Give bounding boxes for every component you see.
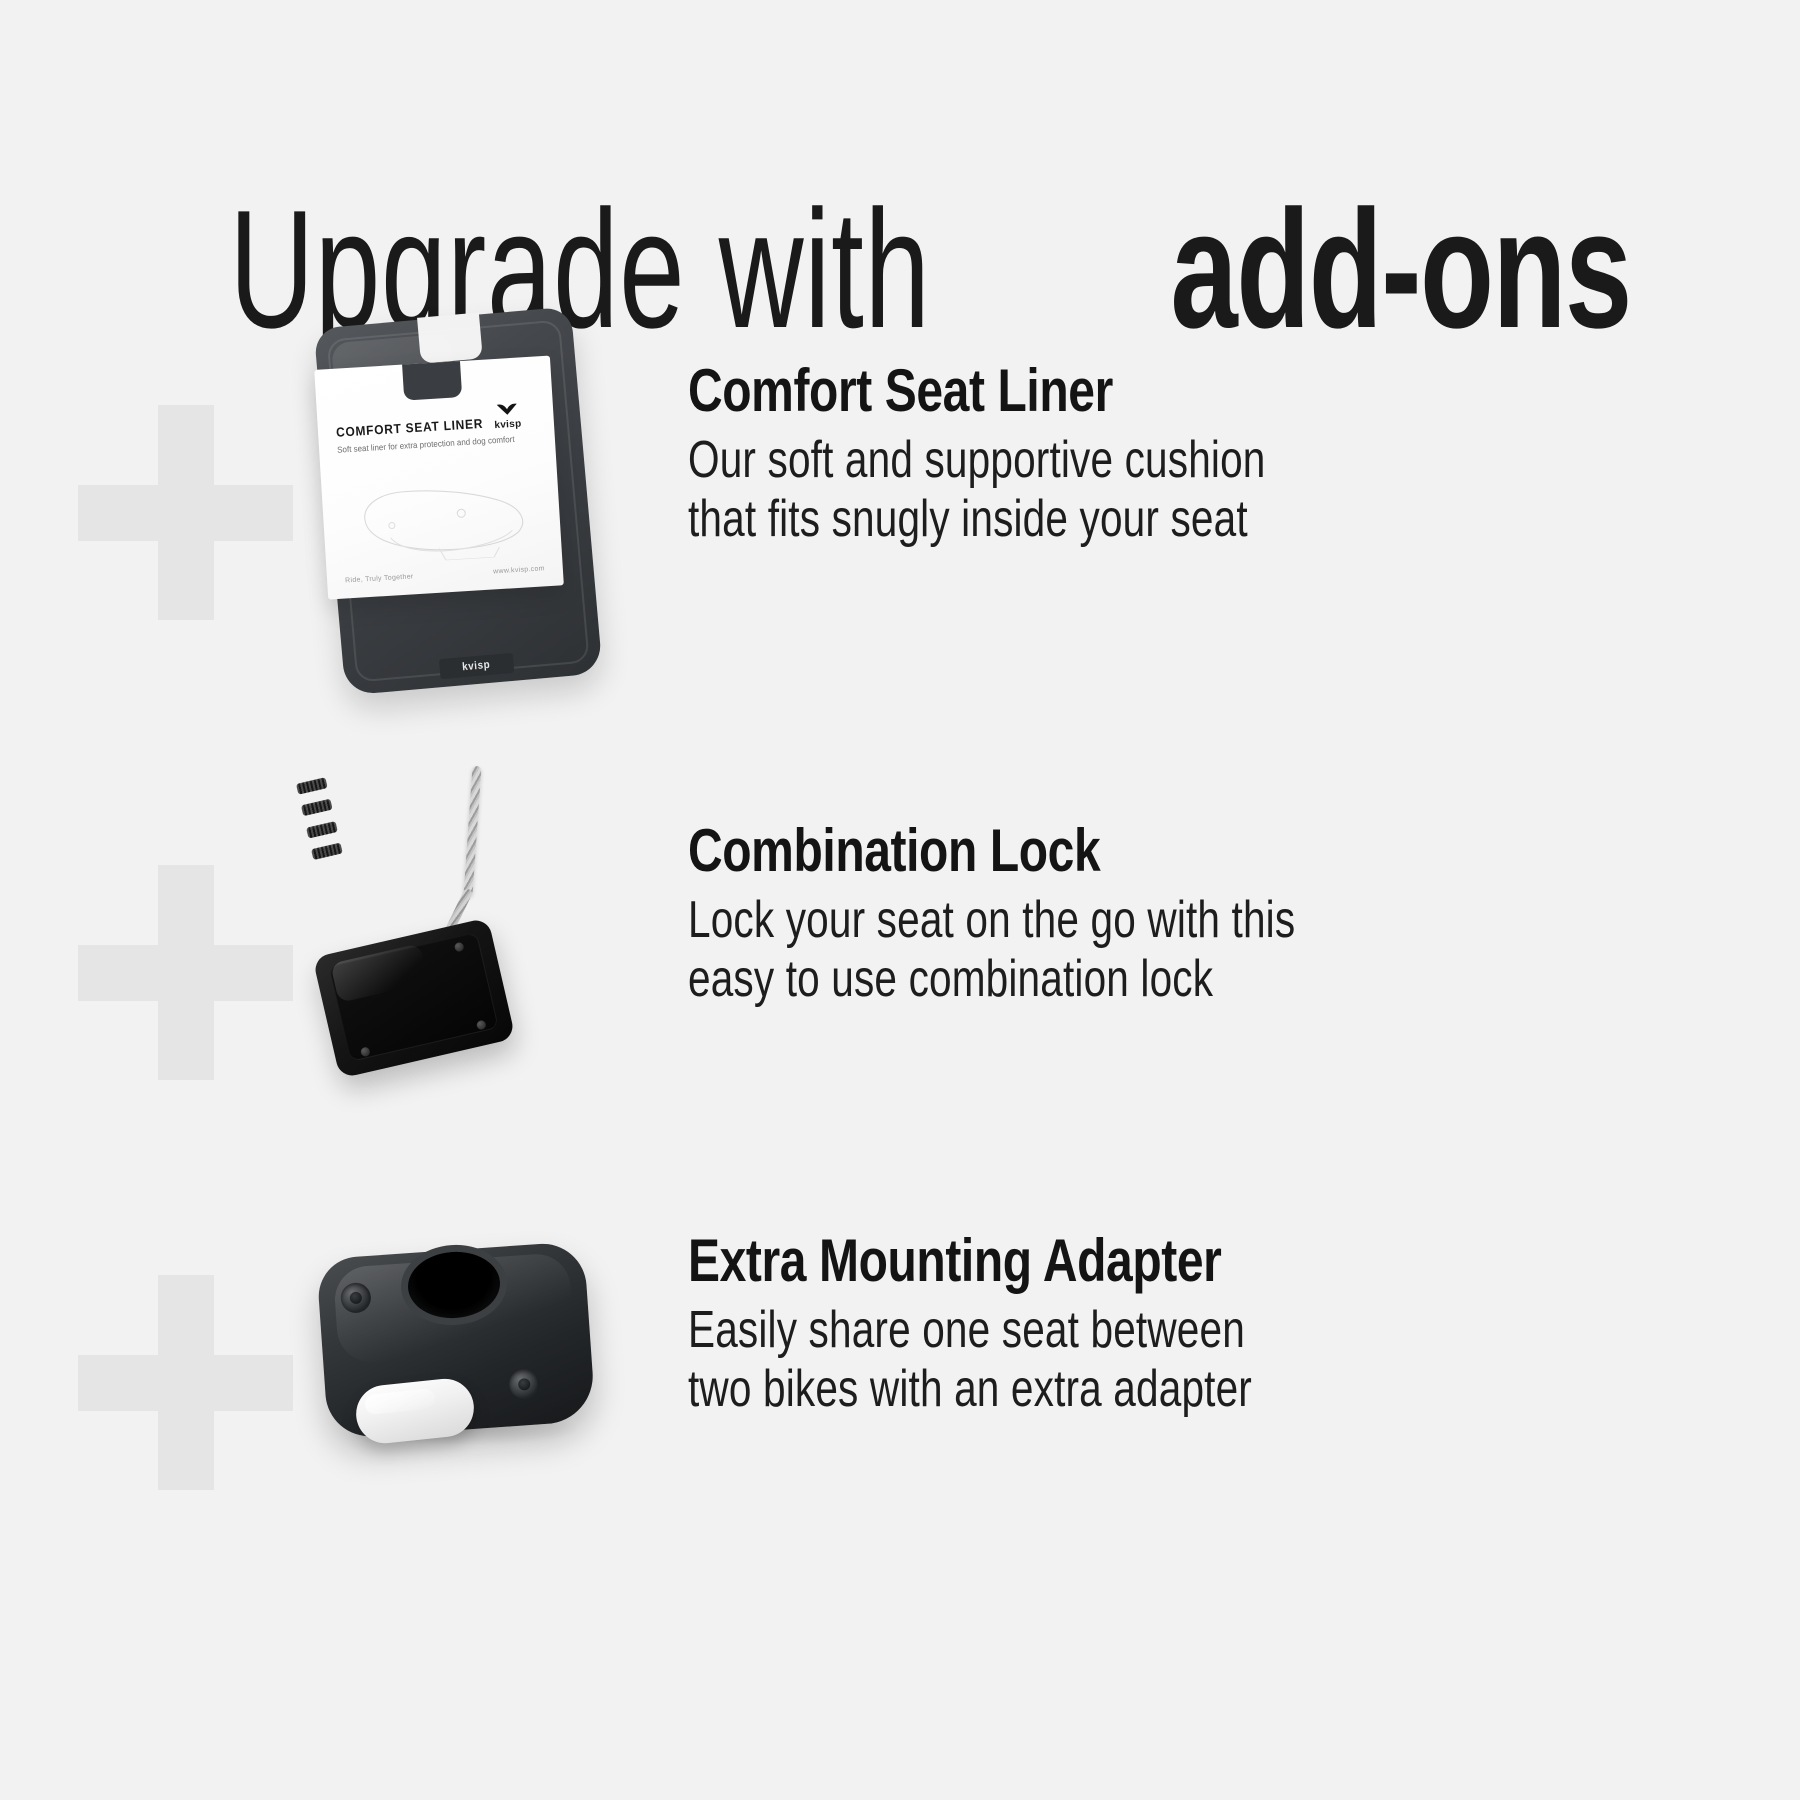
mounting-adapter-image bbox=[300, 1170, 640, 1590]
lock-body bbox=[312, 917, 515, 1078]
addon-heading: Extra Mounting Adapter bbox=[688, 1230, 1328, 1291]
addon-row-mounting-adapter: Extra Mounting Adapter Easily share one … bbox=[0, 1170, 1800, 1590]
addon-heading: Combination Lock bbox=[688, 820, 1328, 881]
plus-icon bbox=[78, 865, 293, 1080]
addons-infographic: Upgrade with add-ons kvisp COMFORT SEAT … bbox=[0, 0, 1800, 1800]
package-insert-card: COMFORT SEAT LINER Soft seat liner for e… bbox=[314, 356, 564, 600]
bird-logo-icon bbox=[496, 402, 519, 417]
brand-logo: kvisp bbox=[483, 401, 533, 444]
lock-cable bbox=[463, 766, 481, 896]
addon-description-line: Lock your seat on the go with this bbox=[688, 891, 1312, 950]
lock-dials bbox=[296, 777, 343, 860]
package-url: www.kvisp.com bbox=[493, 565, 545, 575]
addon-heading: Comfort Seat Liner bbox=[688, 360, 1328, 421]
addon-description-line: two bikes with an extra adapter bbox=[688, 1360, 1312, 1419]
addon-text-block: Comfort Seat Liner Our soft and supporti… bbox=[688, 360, 1488, 550]
addon-description-line: Our soft and supportive cushion bbox=[688, 431, 1312, 490]
addon-description-line: Easily share one seat between bbox=[688, 1301, 1312, 1360]
addon-row-combination-lock: Combination Lock Lock your seat on the g… bbox=[0, 760, 1800, 1180]
combination-lock-image bbox=[300, 760, 640, 1180]
addon-row-comfort-seat-liner: kvisp COMFORT SEAT LINER Soft seat liner… bbox=[0, 300, 1800, 720]
addon-text-block: Extra Mounting Adapter Easily share one … bbox=[688, 1230, 1488, 1420]
plus-icon bbox=[78, 1275, 293, 1490]
brand-name: kvisp bbox=[494, 418, 522, 431]
product-line-drawing-icon bbox=[349, 469, 540, 566]
comfort-seat-liner-package-image: kvisp COMFORT SEAT LINER Soft seat liner… bbox=[300, 300, 640, 720]
addon-description-line: easy to use combination lock bbox=[688, 950, 1312, 1009]
addon-text-block: Combination Lock Lock your seat on the g… bbox=[688, 820, 1488, 1010]
package-tagline: Ride, Truly Together bbox=[345, 573, 414, 584]
plus-icon bbox=[78, 405, 293, 620]
addon-description-line: that fits snugly inside your seat bbox=[688, 490, 1312, 549]
pad-brand-label: kvisp bbox=[462, 659, 491, 673]
